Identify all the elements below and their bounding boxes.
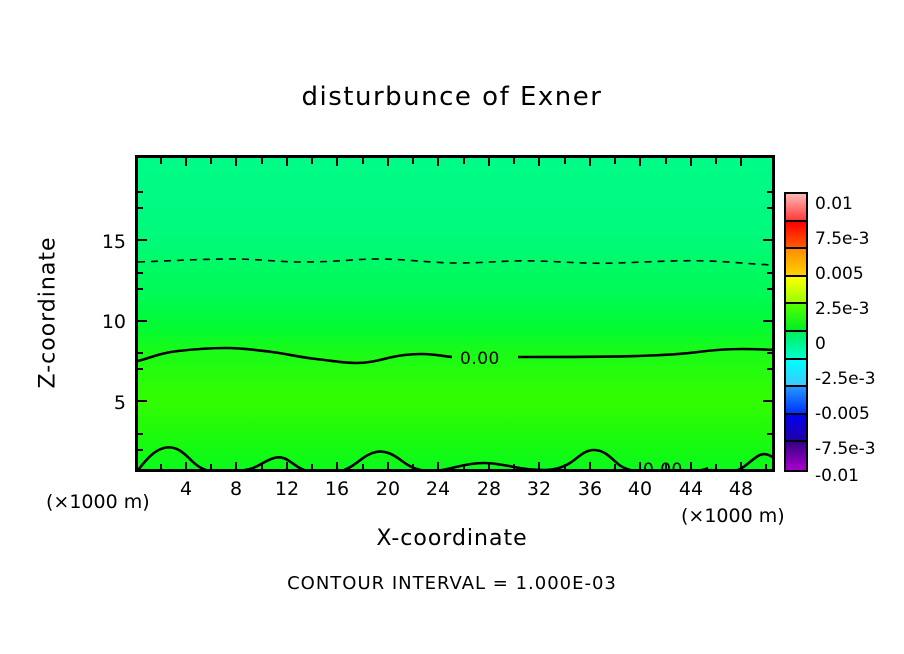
colorbar-label-0: 0.01 bbox=[815, 194, 853, 214]
x-axis-title: X-coordinate bbox=[0, 526, 904, 551]
ytick-5 bbox=[136, 400, 147, 402]
xtick-top-44 bbox=[690, 156, 692, 166]
xtick-minor-42 bbox=[665, 464, 667, 470]
contour-zero-lower-bumps bbox=[694, 454, 775, 471]
xtick-label-4: 4 bbox=[164, 478, 208, 500]
xtick-top-minor-14 bbox=[311, 158, 313, 164]
xtick-44 bbox=[690, 462, 692, 472]
ytick-minor-3 bbox=[136, 433, 143, 435]
ytick-minor-18 bbox=[136, 191, 143, 193]
ytick-right-10 bbox=[763, 320, 774, 322]
xtick-top-24 bbox=[437, 156, 439, 166]
colorbar-segment-1 bbox=[786, 194, 806, 222]
xtick-top-minor-22 bbox=[412, 158, 414, 164]
xtick-4 bbox=[185, 462, 187, 472]
contour-dashed-line bbox=[138, 259, 775, 265]
colorbar-label-1: 7.5e-3 bbox=[815, 229, 869, 249]
xtick-minor-30 bbox=[513, 464, 515, 470]
colorbar bbox=[784, 192, 808, 472]
ytick-right-15 bbox=[763, 239, 774, 241]
xtick-top-minor-46 bbox=[715, 158, 717, 164]
ytick-right-minor-12 bbox=[767, 288, 774, 290]
xtick-top-20 bbox=[387, 156, 389, 166]
colorbar-label-8: -0.01 bbox=[815, 466, 859, 486]
ytick-minor-12 bbox=[136, 288, 143, 290]
ytick-label-5: 5 bbox=[96, 392, 126, 414]
colorbar-segment-4 bbox=[786, 277, 806, 305]
ytick-minor-7 bbox=[136, 368, 143, 370]
xtick-top-8 bbox=[235, 156, 237, 166]
ytick-15 bbox=[136, 239, 147, 241]
y-axis-title: Z-coordinate bbox=[36, 193, 61, 433]
xtick-top-minor-34 bbox=[564, 158, 566, 164]
xtick-top-minor-18 bbox=[362, 158, 364, 164]
xtick-label-44: 44 bbox=[669, 478, 713, 500]
xtick-top-minor-6 bbox=[210, 158, 212, 164]
ytick-minor-13 bbox=[136, 272, 143, 274]
ytick-right-minor-8 bbox=[767, 352, 774, 354]
xtick-label-8: 8 bbox=[214, 478, 258, 500]
xtick-minor-2 bbox=[160, 464, 162, 470]
colorbar-segment-3 bbox=[786, 249, 806, 277]
ytick-minor-8 bbox=[136, 352, 143, 354]
xtick-20 bbox=[387, 462, 389, 472]
xtick-label-16: 16 bbox=[315, 478, 359, 500]
colorbar-label-5: -2.5e-3 bbox=[815, 369, 876, 389]
xtick-label-48: 48 bbox=[719, 478, 763, 500]
xtick-top-minor-30 bbox=[513, 158, 515, 164]
ytick-right-minor-7 bbox=[767, 368, 774, 370]
xtick-minor-6 bbox=[210, 464, 212, 470]
ytick-right-5 bbox=[763, 400, 774, 402]
xtick-top-48 bbox=[740, 156, 742, 166]
contour-interval-caption: CONTOUR INTERVAL = 1.000E-03 bbox=[0, 573, 904, 594]
ytick-right-minor-18 bbox=[767, 191, 774, 193]
colorbar-segment-6 bbox=[786, 332, 806, 360]
contour-zero-upper-left bbox=[138, 348, 452, 363]
xtick-minor-10 bbox=[261, 464, 263, 470]
xtick-top-minor-26 bbox=[463, 158, 465, 164]
xtick-top-40 bbox=[639, 156, 641, 166]
xtick-36 bbox=[589, 462, 591, 472]
xtick-top-28 bbox=[488, 156, 490, 166]
xtick-top-4 bbox=[185, 156, 187, 166]
xtick-label-28: 28 bbox=[467, 478, 511, 500]
contour-label-lower: 0.00 bbox=[643, 460, 683, 472]
xtick-16 bbox=[336, 462, 338, 472]
colorbar-label-6: -0.005 bbox=[815, 404, 870, 424]
xtick-minor-50 bbox=[765, 464, 767, 470]
xtick-40 bbox=[639, 462, 641, 472]
x-unit-left-label: (×1000 m) bbox=[46, 491, 150, 513]
xtick-top-36 bbox=[589, 156, 591, 166]
ytick-minor-2 bbox=[136, 449, 143, 451]
xtick-28 bbox=[488, 462, 490, 472]
ytick-right-minor-3 bbox=[767, 433, 774, 435]
ytick-label-15: 15 bbox=[96, 231, 126, 253]
colorbar-segment-5 bbox=[786, 304, 806, 332]
xtick-48 bbox=[740, 462, 742, 472]
xtick-label-12: 12 bbox=[265, 478, 309, 500]
colorbar-segment-10 bbox=[786, 442, 806, 470]
xtick-minor-34 bbox=[564, 464, 566, 470]
contour-zero-lower-right bbox=[701, 470, 775, 472]
xtick-minor-38 bbox=[614, 464, 616, 470]
colorbar-segment-2 bbox=[786, 222, 806, 250]
contour-lines-overlay: 0.00 0.00 bbox=[138, 158, 775, 472]
xtick-minor-26 bbox=[463, 464, 465, 470]
xtick-label-24: 24 bbox=[416, 478, 460, 500]
xtick-minor-18 bbox=[362, 464, 364, 470]
xtick-top-minor-10 bbox=[261, 158, 263, 164]
colorbar-segment-7 bbox=[786, 360, 806, 388]
xtick-label-36: 36 bbox=[568, 478, 612, 500]
contour-zero-upper-right bbox=[518, 349, 775, 357]
ytick-label-10: 10 bbox=[96, 311, 126, 333]
xtick-24 bbox=[437, 462, 439, 472]
page-title: disturbunce of Exner bbox=[0, 82, 904, 112]
ytick-right-minor-13 bbox=[767, 272, 774, 274]
xtick-12 bbox=[286, 462, 288, 472]
xtick-label-32: 32 bbox=[517, 478, 561, 500]
xtick-top-minor-2 bbox=[160, 158, 162, 164]
xtick-top-16 bbox=[336, 156, 338, 166]
xtick-minor-46 bbox=[715, 464, 717, 470]
x-unit-right-label: (×1000 m) bbox=[681, 505, 785, 527]
xtick-minor-22 bbox=[412, 464, 414, 470]
xtick-minor-14 bbox=[311, 464, 313, 470]
ytick-right-minor-17 bbox=[767, 207, 774, 209]
colorbar-label-4: 0 bbox=[815, 334, 826, 354]
xtick-top-12 bbox=[286, 156, 288, 166]
ytick-10 bbox=[136, 320, 147, 322]
colorbar-label-2: 0.005 bbox=[815, 264, 864, 284]
colorbar-segment-9 bbox=[786, 415, 806, 443]
xtick-top-minor-42 bbox=[665, 158, 667, 164]
xtick-label-20: 20 bbox=[366, 478, 410, 500]
contour-plot-area: 0.00 0.00 bbox=[135, 155, 775, 472]
xtick-32 bbox=[538, 462, 540, 472]
contour-label-upper: 0.00 bbox=[460, 349, 500, 369]
colorbar-label-3: 2.5e-3 bbox=[815, 299, 869, 319]
xtick-8 bbox=[235, 462, 237, 472]
xtick-top-minor-38 bbox=[614, 158, 616, 164]
xtick-label-40: 40 bbox=[618, 478, 662, 500]
colorbar-label-7: -7.5e-3 bbox=[815, 439, 876, 459]
xtick-top-32 bbox=[538, 156, 540, 166]
ytick-minor-17 bbox=[136, 207, 143, 209]
colorbar-segment-8 bbox=[786, 387, 806, 415]
